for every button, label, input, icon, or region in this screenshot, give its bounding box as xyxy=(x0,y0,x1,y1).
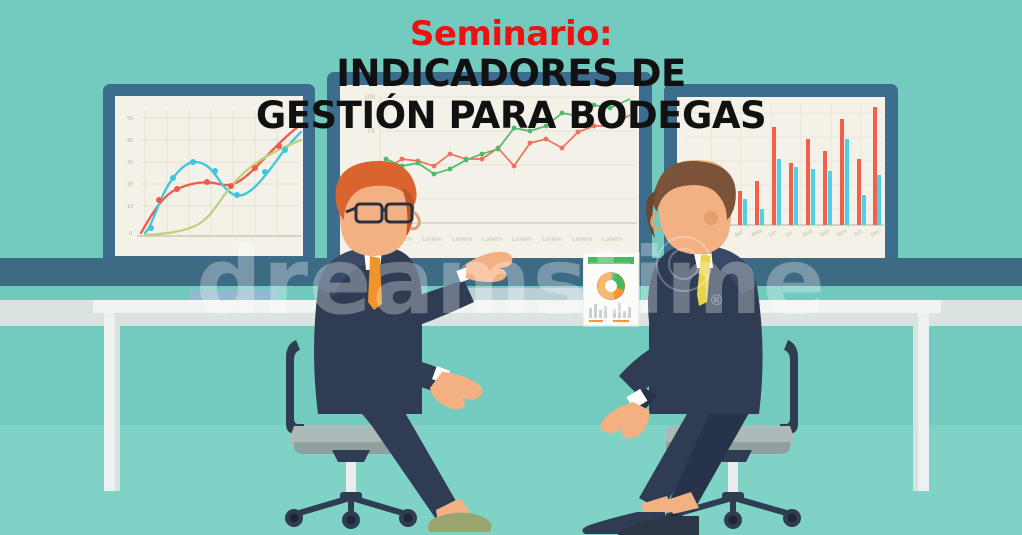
svg-text:10: 10 xyxy=(127,204,133,210)
report-document[interactable] xyxy=(583,252,645,328)
svg-text:30: 30 xyxy=(127,160,133,166)
desk-leg-left-shadow xyxy=(115,313,120,491)
person-left xyxy=(258,160,518,535)
svg-text:20: 20 xyxy=(127,182,133,188)
watermark-ring-2 xyxy=(668,248,700,280)
svg-text:Oct: Oct xyxy=(853,229,864,239)
svg-text:0: 0 xyxy=(129,231,132,237)
svg-text:50: 50 xyxy=(127,116,133,122)
right-person-hand xyxy=(600,402,649,438)
svg-text:Sep: Sep xyxy=(819,228,831,239)
illustration-canvas: 5040 3020 100 xyxy=(0,0,1022,535)
left-person-tie xyxy=(368,256,382,310)
watermark-registered-mark: ® xyxy=(711,292,722,309)
desk-leg-right-shadow xyxy=(913,313,918,491)
svg-text:40: 40 xyxy=(127,138,133,144)
desk-leg-left xyxy=(104,313,115,491)
svg-text:Nov: Nov xyxy=(836,228,849,239)
svg-text:Dec: Dec xyxy=(870,228,882,239)
left-person-hand-desk xyxy=(430,372,483,409)
svg-text:100: 100 xyxy=(364,94,376,101)
right-person-ear xyxy=(704,211,718,225)
svg-text:75: 75 xyxy=(367,128,375,135)
person-right xyxy=(545,160,815,535)
desk-leg-right xyxy=(918,313,929,491)
document-donut-chart xyxy=(597,272,625,300)
left-person-hand-pointing xyxy=(466,252,512,282)
document-header-bar xyxy=(588,257,634,264)
left-person-leg xyxy=(354,404,460,522)
